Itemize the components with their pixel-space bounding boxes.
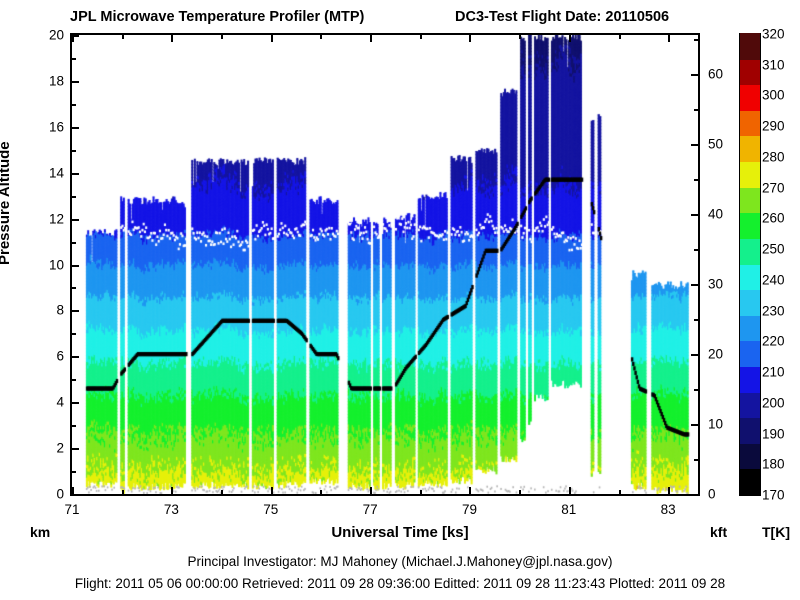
y-axis-left-tick-label: 16 xyxy=(36,119,64,134)
temperature-curtain-canvas xyxy=(72,35,698,494)
colorbar-tick-label: 210 xyxy=(762,365,785,380)
y-axis-right-tick-label: 30 xyxy=(708,277,738,292)
mtp-plot-page: JPL Microwave Temperature Profiler (MTP)… xyxy=(0,0,800,600)
axis-tick xyxy=(72,471,76,473)
y-axis-right-tick-label: 40 xyxy=(708,207,738,222)
colorbar-segment xyxy=(740,187,760,213)
axis-tick xyxy=(694,249,698,251)
axis-tick xyxy=(72,448,79,450)
axis-tick xyxy=(619,35,621,39)
colorbar-tick-label: 180 xyxy=(762,457,785,472)
axis-tick xyxy=(72,287,76,289)
x-axis-tick-label: 75 xyxy=(263,502,278,517)
axis-tick xyxy=(420,35,422,39)
page-title: JPL Microwave Temperature Profiler (MTP) xyxy=(70,9,364,25)
y-axis-left-tick-label: 18 xyxy=(36,73,64,88)
axis-tick xyxy=(72,379,76,381)
axis-tick xyxy=(72,333,76,335)
colorbar-segment xyxy=(740,392,760,418)
y-axis-right-tick-label: 20 xyxy=(708,347,738,362)
y-axis-left-tick-label: 14 xyxy=(36,165,64,180)
colorbar-tick-label: 320 xyxy=(762,27,785,42)
footer-investigator: Principal Investigator: MJ Mahoney (Mich… xyxy=(0,554,800,569)
plot-data-area xyxy=(72,35,698,494)
axis-tick xyxy=(694,459,698,461)
axis-tick xyxy=(171,35,173,42)
axis-tick xyxy=(370,487,372,494)
x-axis-title: Universal Time [ks] xyxy=(331,524,468,541)
axis-tick xyxy=(668,35,670,42)
colorbar-segment xyxy=(740,290,760,316)
colorbar-segment xyxy=(740,213,760,239)
colorbar-segment xyxy=(740,469,760,495)
colorbar-tick-label: 220 xyxy=(762,334,785,349)
axis-tick xyxy=(694,389,698,391)
colorbar-tick-label: 250 xyxy=(762,242,785,257)
axis-tick xyxy=(691,214,698,216)
footer-timestamps: Flight: 2011 05 06 00:00:00 Retrieved: 2… xyxy=(0,576,800,591)
y-axis-title: Pressure Altitude xyxy=(0,141,13,265)
axis-tick xyxy=(72,402,79,404)
axis-tick xyxy=(72,356,79,358)
colorbar-segment xyxy=(740,59,760,85)
axis-tick xyxy=(420,490,422,494)
y-axis-left-tick-label: 8 xyxy=(36,303,64,318)
axis-tick xyxy=(569,35,571,42)
x-axis-tick-label: 73 xyxy=(164,502,179,517)
colorbar-segment xyxy=(740,315,760,341)
axis-tick xyxy=(72,81,79,83)
axis-tick xyxy=(122,35,124,39)
axis-tick xyxy=(370,35,372,42)
axis-tick xyxy=(320,35,322,39)
axis-tick xyxy=(72,173,79,175)
x-axis-tick-label: 77 xyxy=(363,502,378,517)
axis-tick xyxy=(519,35,521,39)
x-axis-tick-label: 79 xyxy=(462,502,477,517)
colorbar-tick-label: 190 xyxy=(762,426,785,441)
axis-tick xyxy=(691,284,698,286)
axis-tick xyxy=(694,319,698,321)
colorbar-tick-label: 230 xyxy=(762,303,785,318)
flight-date-title: DC3-Test Flight Date: 20110506 xyxy=(455,9,669,25)
axis-tick xyxy=(72,242,76,244)
y-axis-right-tick-label: 10 xyxy=(708,417,738,432)
colorbar-tick-label: 300 xyxy=(762,88,785,103)
axis-tick xyxy=(569,487,571,494)
colorbar-unit: T[K] xyxy=(762,524,790,540)
axis-tick xyxy=(694,39,698,41)
axis-tick xyxy=(72,494,79,496)
axis-tick xyxy=(221,490,223,494)
colorbar-segment xyxy=(740,418,760,444)
colorbar-tick-label: 290 xyxy=(762,119,785,134)
axis-tick xyxy=(72,35,74,42)
colorbar-tick-label: 280 xyxy=(762,149,785,164)
colorbar-segment xyxy=(740,33,760,59)
axis-tick xyxy=(221,35,223,39)
x-axis-tick-label: 81 xyxy=(561,502,576,517)
y-axis-right-tick-label: 50 xyxy=(708,137,738,152)
colorbar-segment xyxy=(740,110,760,136)
axis-tick xyxy=(320,490,322,494)
axis-tick xyxy=(271,35,273,42)
axis-tick xyxy=(122,490,124,494)
axis-tick xyxy=(72,58,76,60)
axis-tick xyxy=(691,494,698,496)
x-axis-tick-label: 71 xyxy=(64,502,79,517)
axis-tick xyxy=(694,109,698,111)
axis-tick xyxy=(72,487,74,494)
axis-tick xyxy=(694,179,698,181)
temperature-colorbar xyxy=(739,33,761,496)
y-axis-left-tick-label: 20 xyxy=(36,28,64,43)
axis-tick xyxy=(668,487,670,494)
y-axis-left-tick-label: 12 xyxy=(36,211,64,226)
axis-tick xyxy=(72,425,76,427)
axis-tick xyxy=(519,490,521,494)
y-axis-left-tick-label: 4 xyxy=(36,395,64,410)
axis-tick xyxy=(691,424,698,426)
colorbar-segment xyxy=(740,443,760,469)
colorbar-tick-label: 260 xyxy=(762,211,785,226)
axis-tick xyxy=(619,490,621,494)
axis-tick xyxy=(72,219,79,221)
plot-frame xyxy=(70,33,700,496)
y-axis-left-tick-label: 0 xyxy=(36,487,64,502)
axis-tick xyxy=(691,74,698,76)
colorbar-segment xyxy=(740,161,760,187)
y-axis-left-tick-label: 10 xyxy=(36,257,64,272)
colorbar-tick-label: 170 xyxy=(762,488,785,503)
colorbar-segment xyxy=(740,264,760,290)
colorbar-segment xyxy=(740,136,760,162)
y-axis-right-unit: kft xyxy=(710,524,727,540)
colorbar-segment xyxy=(740,341,760,367)
y-axis-left-tick-label: 6 xyxy=(36,349,64,364)
axis-tick xyxy=(691,144,698,146)
axis-tick xyxy=(72,310,79,312)
axis-tick xyxy=(469,35,471,42)
colorbar-tick-label: 310 xyxy=(762,57,785,72)
y-axis-left-unit: km xyxy=(30,524,50,540)
x-axis-tick-label: 83 xyxy=(661,502,676,517)
y-axis-left-tick-label: 2 xyxy=(36,441,64,456)
axis-tick xyxy=(72,265,79,267)
colorbar-tick-label: 270 xyxy=(762,180,785,195)
axis-tick xyxy=(72,127,79,129)
y-axis-right-tick-label: 60 xyxy=(708,67,738,82)
axis-tick xyxy=(72,196,76,198)
axis-tick xyxy=(691,354,698,356)
axis-tick xyxy=(271,487,273,494)
colorbar-segment xyxy=(740,85,760,111)
y-axis-right-tick-label: 0 xyxy=(708,487,738,502)
colorbar-tick-label: 240 xyxy=(762,272,785,287)
axis-tick xyxy=(72,150,76,152)
axis-tick xyxy=(171,487,173,494)
colorbar-segment xyxy=(740,238,760,264)
colorbar-segment xyxy=(740,366,760,392)
axis-tick xyxy=(72,104,76,106)
axis-tick xyxy=(469,487,471,494)
colorbar-tick-label: 200 xyxy=(762,395,785,410)
